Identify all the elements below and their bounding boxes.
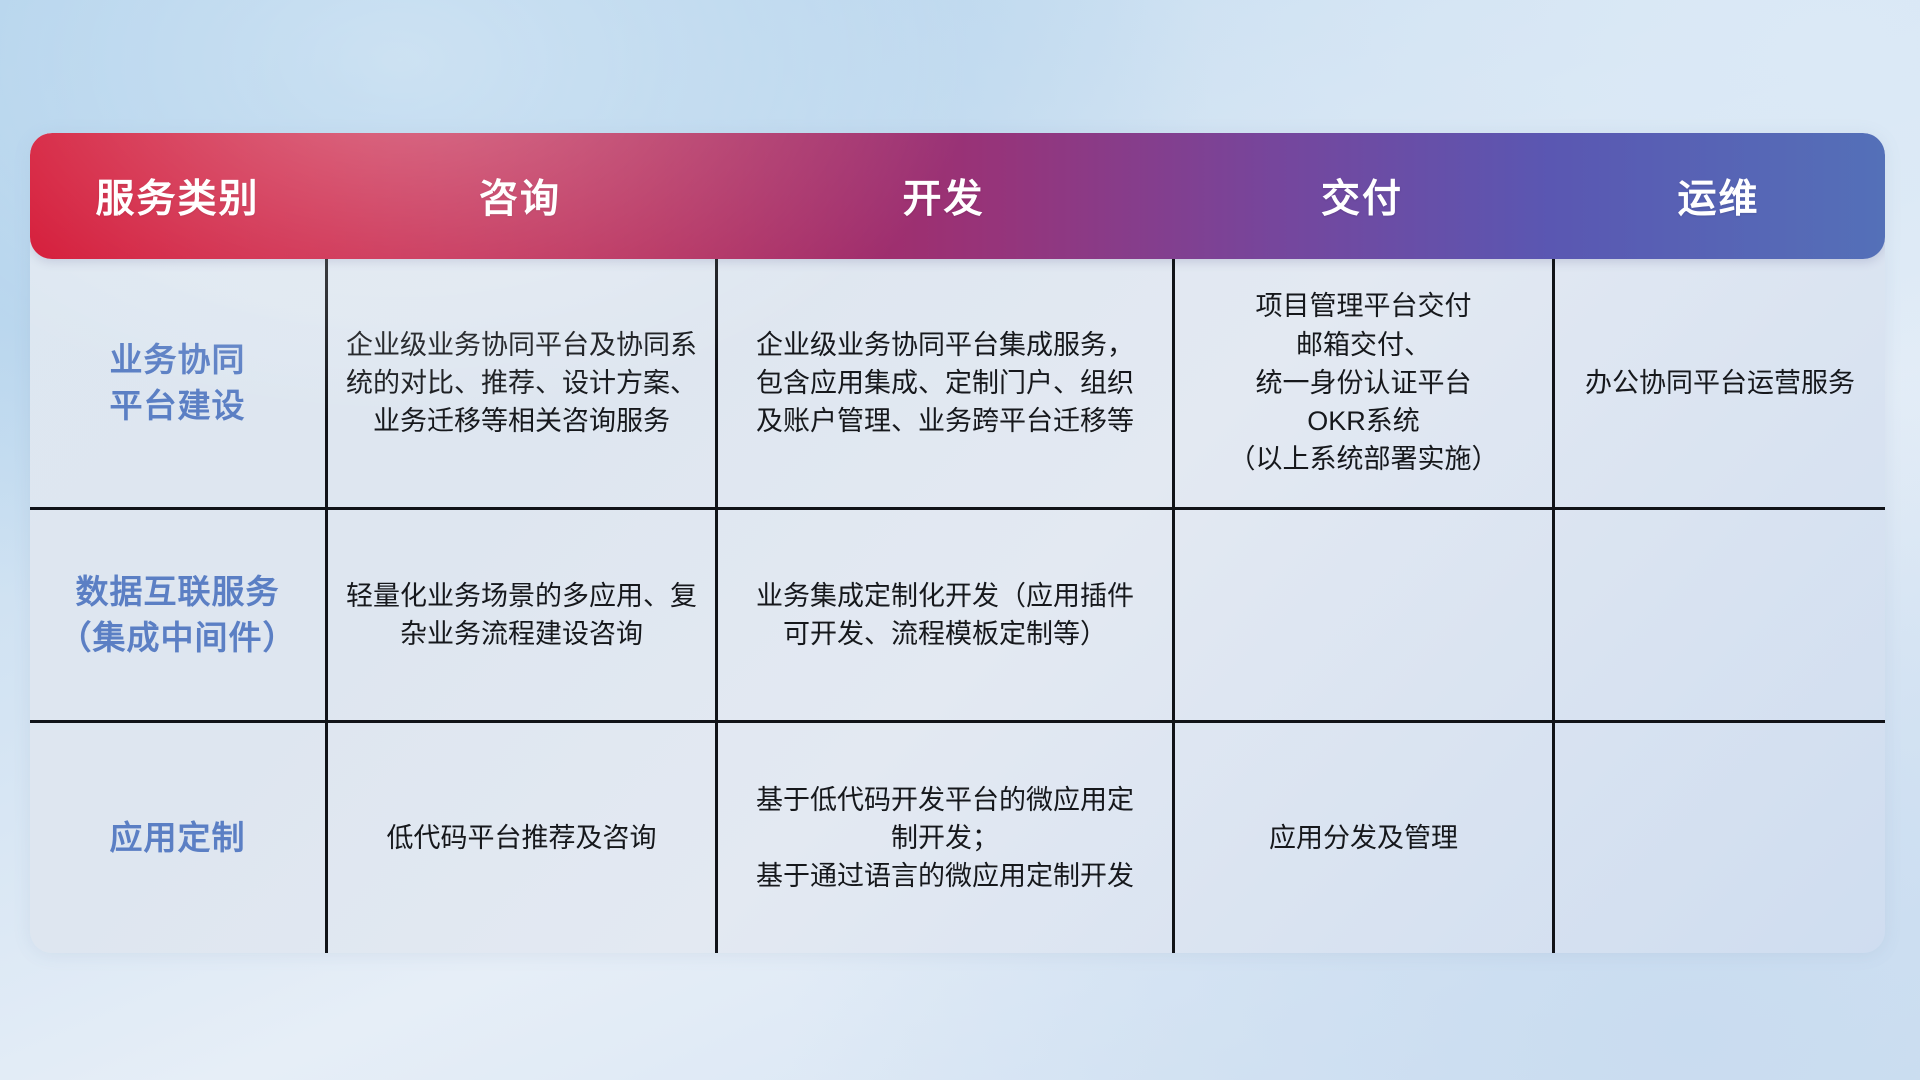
cell-consulting: 低代码平台推荐及咨询	[325, 723, 715, 953]
cell-operations	[1552, 723, 1885, 953]
cell-delivery: 应用分发及管理	[1172, 723, 1552, 953]
cell-development: 业务集成定制化开发（应用插件 可开发、流程模板定制等）	[715, 510, 1172, 720]
table-body: 业务协同 平台建设 企业级业务协同平台及协同系 统的对比、推荐、设计方案、 业务…	[30, 259, 1885, 953]
column-header-delivery: 交付	[1172, 133, 1552, 259]
cell-delivery: 项目管理平台交付 邮箱交付、 统一身份认证平台 OKR系统 （以上系统部署实施）	[1172, 259, 1552, 507]
row-label-data-interconnection: 数据互联服务 （集成中间件）	[30, 510, 325, 720]
cell-operations	[1552, 510, 1885, 720]
service-matrix-table: 服务类别 咨询 开发 交付 运维 业务协同 平台建设 企业级业务协同平台及协同系…	[30, 133, 1885, 953]
cell-consulting: 轻量化业务场景的多应用、复 杂业务流程建设咨询	[325, 510, 715, 720]
cell-operations: 办公协同平台运营服务	[1552, 259, 1885, 507]
column-header-consulting: 咨询	[325, 133, 715, 259]
row-label-business-collaboration: 业务协同 平台建设	[30, 259, 325, 507]
column-header-category: 服务类别	[30, 133, 325, 259]
cell-development: 基于低代码开发平台的微应用定 制开发； 基于通过语言的微应用定制开发	[715, 723, 1172, 953]
table-row: 应用定制 低代码平台推荐及咨询 基于低代码开发平台的微应用定 制开发； 基于通过…	[30, 720, 1885, 953]
page-background: 服务类别 咨询 开发 交付 运维 业务协同 平台建设 企业级业务协同平台及协同系…	[0, 0, 1920, 1080]
cell-consulting: 企业级业务协同平台及协同系 统的对比、推荐、设计方案、 业务迁移等相关咨询服务	[325, 259, 715, 507]
row-label-application-customization: 应用定制	[30, 723, 325, 953]
table-row: 业务协同 平台建设 企业级业务协同平台及协同系 统的对比、推荐、设计方案、 业务…	[30, 259, 1885, 507]
column-header-operations: 运维	[1552, 133, 1885, 259]
table-row: 数据互联服务 （集成中间件） 轻量化业务场景的多应用、复 杂业务流程建设咨询 业…	[30, 507, 1885, 720]
column-header-development: 开发	[715, 133, 1172, 259]
table-header-row: 服务类别 咨询 开发 交付 运维	[30, 133, 1885, 259]
cell-development: 企业级业务协同平台集成服务， 包含应用集成、定制门户、组织 及账户管理、业务跨平…	[715, 259, 1172, 507]
cell-delivery	[1172, 510, 1552, 720]
